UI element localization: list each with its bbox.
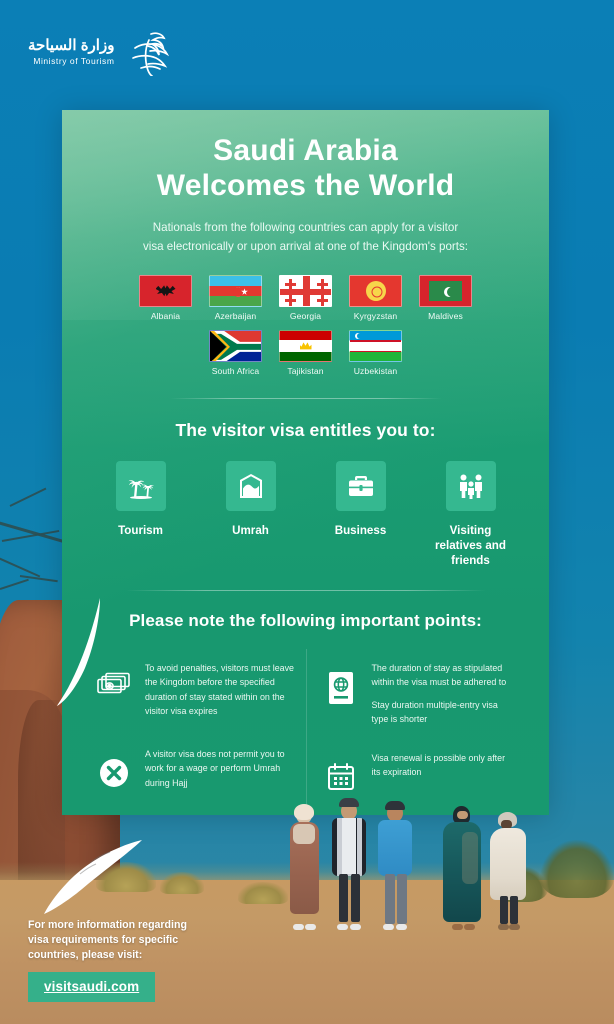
entitlement-label: Tourism bbox=[97, 523, 185, 538]
grass-tuft bbox=[96, 862, 156, 892]
page-title: Saudi Arabia Welcomes the World bbox=[92, 134, 519, 204]
entitlement-label: Umrah bbox=[207, 523, 295, 538]
section-divider bbox=[126, 590, 486, 591]
flag-maldives-icon bbox=[419, 275, 472, 307]
entitlement-visiting-relatives: Visiting relatives and friends bbox=[427, 461, 515, 568]
footer: For more information regarding visa requ… bbox=[28, 918, 187, 1002]
flag-tajikistan-icon bbox=[279, 330, 332, 362]
footer-line-1: For more information regarding bbox=[28, 919, 187, 931]
flag-item-south-africa: South Africa bbox=[209, 330, 262, 376]
main-info-card: Saudi Arabia Welcomes the World National… bbox=[62, 110, 549, 815]
flag-item-uzbekistan: Uzbekistan bbox=[349, 330, 402, 376]
flag-label: Tajikistan bbox=[279, 366, 332, 376]
flag-label: South Africa bbox=[209, 366, 262, 376]
note-paragraph: The duration of stay as stipulated withi… bbox=[372, 661, 514, 690]
family-icon bbox=[446, 461, 496, 511]
entitlement-label: Visiting relatives and friends bbox=[427, 523, 515, 568]
note-text: Visa renewal is possible only after its … bbox=[372, 751, 514, 780]
person bbox=[440, 802, 484, 930]
entitlements-list: Tourism Umrah bbox=[92, 461, 519, 568]
note-paragraph: To avoid penalties, visitors must leave … bbox=[145, 661, 300, 719]
person bbox=[486, 810, 530, 930]
note-paragraph: Stay duration multiple-entry visa type i… bbox=[372, 698, 514, 727]
flags-row-1: Albania Azerbaijan Georgia Kyrgyzstan bbox=[92, 275, 519, 321]
flag-item-maldives: Maldives bbox=[419, 275, 472, 321]
subtitle-line-2: visa electronically or upon arrival at o… bbox=[143, 240, 468, 253]
person bbox=[284, 806, 324, 930]
grass-tuft bbox=[160, 872, 204, 894]
entitlement-business: Business bbox=[317, 461, 405, 568]
flag-item-tajikistan: Tajikistan bbox=[279, 330, 332, 376]
flag-label: Albania bbox=[139, 311, 192, 321]
footer-text: For more information regarding visa requ… bbox=[28, 918, 187, 963]
visitsaudi-link-button[interactable]: visitsaudi.com bbox=[28, 972, 155, 1002]
logo-text: وزارة السياحة Ministry of Tourism bbox=[28, 38, 114, 67]
flag-item-kyrgyzstan: Kyrgyzstan bbox=[349, 275, 402, 321]
title-line-1: Saudi Arabia bbox=[213, 134, 398, 167]
subtitle-line-1: Nationals from the following countries c… bbox=[153, 221, 458, 234]
flag-item-georgia: Georgia bbox=[279, 275, 332, 321]
logo-english-text: Ministry of Tourism bbox=[28, 56, 114, 66]
flag-albania-icon bbox=[139, 275, 192, 307]
note-item: The duration of stay as stipulated withi… bbox=[307, 649, 520, 739]
kaaba-mosque-icon bbox=[226, 461, 276, 511]
note-text: The duration of stay as stipulated withi… bbox=[372, 661, 514, 727]
flag-kyrgyzstan-icon bbox=[349, 275, 402, 307]
entitlements-title: The visitor visa entitles you to: bbox=[92, 420, 519, 441]
flag-azerbaijan-icon bbox=[209, 275, 262, 307]
entitlement-label: Business bbox=[317, 523, 405, 538]
palm-trees-icon bbox=[116, 461, 166, 511]
person bbox=[328, 796, 370, 930]
entitlement-tourism: Tourism bbox=[97, 461, 185, 568]
flag-label: Uzbekistan bbox=[349, 366, 402, 376]
flag-item-azerbaijan: Azerbaijan bbox=[209, 275, 262, 321]
ministry-logo: وزارة السياحة Ministry of Tourism bbox=[28, 28, 173, 76]
briefcase-icon bbox=[336, 461, 386, 511]
notes-title: Please note the following important poin… bbox=[92, 611, 519, 631]
section-divider bbox=[170, 398, 442, 399]
note-text: To avoid penalties, visitors must leave … bbox=[145, 661, 300, 719]
entitlement-umrah: Umrah bbox=[207, 461, 295, 568]
prohibited-x-icon bbox=[94, 747, 134, 789]
flag-label: Kyrgyzstan bbox=[349, 311, 402, 321]
logo-arabic-text: وزارة السياحة bbox=[28, 38, 114, 55]
person bbox=[374, 798, 416, 930]
flag-uzbekistan-icon bbox=[349, 330, 402, 362]
people-walking-photo bbox=[262, 778, 557, 930]
flag-label: Georgia bbox=[279, 311, 332, 321]
flag-south-africa-icon bbox=[209, 330, 262, 362]
footer-line-2: visa requirements for specific bbox=[28, 934, 178, 946]
palm-and-swords-emblem-icon bbox=[121, 28, 173, 76]
title-line-2: Welcomes the World bbox=[157, 169, 455, 202]
flag-item-albania: Albania bbox=[139, 275, 192, 321]
note-item: To avoid penalties, visitors must leave … bbox=[92, 649, 306, 735]
flag-label: Azerbaijan bbox=[209, 311, 262, 321]
banknotes-icon bbox=[94, 661, 134, 697]
passport-icon bbox=[321, 661, 361, 705]
subtitle: Nationals from the following countries c… bbox=[92, 218, 519, 256]
note-paragraph: Visa renewal is possible only after its … bbox=[372, 751, 514, 780]
flags-row-2: South Africa Tajikistan Uzbekistan bbox=[92, 330, 519, 376]
footer-line-3: countries, please visit: bbox=[28, 949, 142, 961]
flag-label: Maldives bbox=[419, 311, 472, 321]
flag-georgia-icon bbox=[279, 275, 332, 307]
